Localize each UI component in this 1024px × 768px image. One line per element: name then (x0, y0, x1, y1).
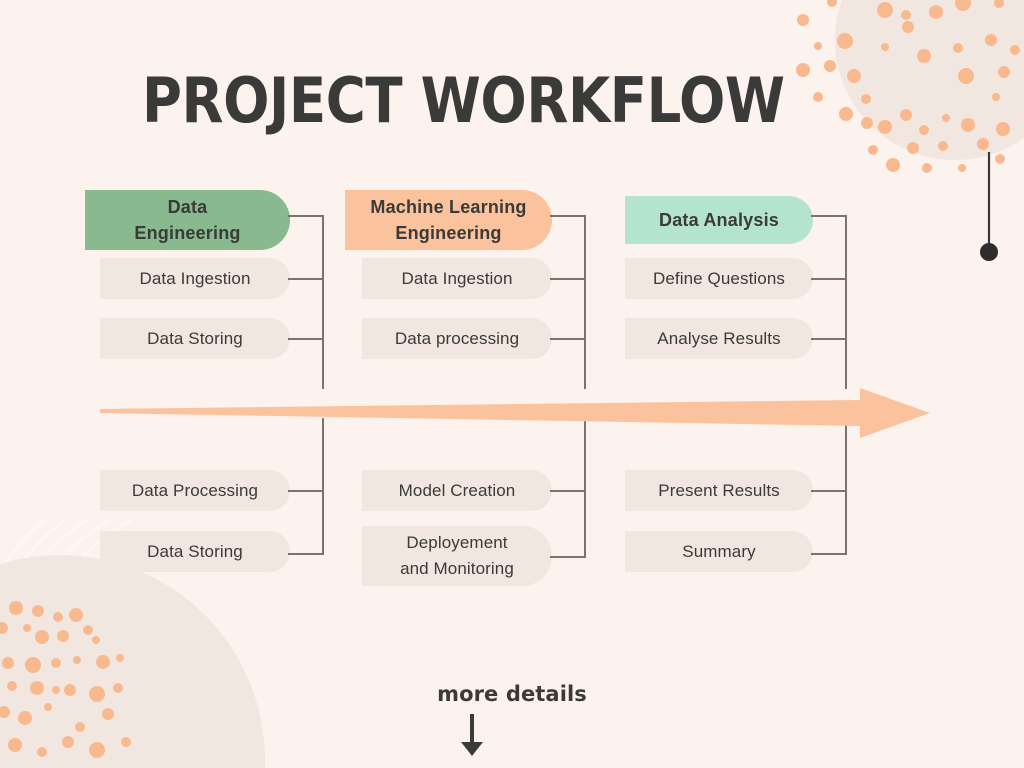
item-label: Data Storing (147, 329, 243, 349)
arrow-down-icon (452, 712, 492, 758)
column-header-label: Data Analysis (659, 210, 779, 231)
item-label-line1: Deployement (406, 533, 507, 552)
item-label: Data processing (395, 329, 519, 349)
item-label: Model Creation (399, 481, 516, 501)
item-label: Present Results (658, 481, 780, 501)
item-col1-data-storing-top[interactable]: Data Storing (100, 318, 290, 359)
item-label: Data Processing (132, 481, 258, 501)
item-col3-present-results[interactable]: Present Results (625, 470, 813, 511)
column-header-data-engineering[interactable]: Data Engineering (85, 190, 290, 250)
dot-cluster-top-right (796, 0, 1020, 173)
stub-col3-top2 (811, 338, 847, 340)
item-label: Data Storing (147, 542, 243, 562)
pin-marker (980, 152, 998, 261)
stub-col1-bot1 (288, 490, 324, 492)
column-header-machine-learning-engineering[interactable]: Machine Learning Engineering (345, 190, 552, 250)
item-label: Analyse Results (657, 329, 780, 349)
item-col2-data-ingestion[interactable]: Data Ingestion (362, 258, 552, 299)
column-header-data-analysis[interactable]: Data Analysis (625, 196, 813, 244)
stub-col1-top1 (288, 278, 324, 280)
column-header-line1: Data (168, 197, 208, 217)
item-label: Define Questions (653, 269, 785, 289)
item-col2-deployment-and-monitoring[interactable]: Deployement and Monitoring (362, 526, 552, 586)
dot-cluster-bottom-left (0, 601, 131, 758)
stub-col2-header (550, 215, 586, 217)
more-details-label: more details (0, 682, 1024, 706)
item-col1-data-processing[interactable]: Data Processing (100, 470, 290, 511)
item-col2-model-creation[interactable]: Model Creation (362, 470, 552, 511)
stub-col3-top1 (811, 278, 847, 280)
blob-top-right (835, 0, 1024, 160)
rail-col3-top (845, 215, 847, 389)
item-col2-data-processing[interactable]: Data processing (362, 318, 552, 359)
stub-col2-top2 (550, 338, 586, 340)
rail-col2-top (584, 215, 586, 389)
stub-col1-header (288, 215, 324, 217)
stub-col1-top2 (288, 338, 324, 340)
stub-col3-bot1 (811, 490, 847, 492)
item-label: Data Ingestion (139, 269, 250, 289)
item-col1-data-ingestion[interactable]: Data Ingestion (100, 258, 290, 299)
item-col1-data-storing-bottom[interactable]: Data Storing (100, 531, 290, 572)
page-title: PROJECT WORKFLOW (142, 62, 811, 140)
stub-col1-bot2 (288, 553, 324, 555)
stub-col2-top1 (550, 278, 586, 280)
column-header-line2: Engineering (134, 223, 240, 243)
infographic-canvas: PROJECT WORKFLOW Data Engineering Data I… (0, 0, 1024, 768)
blob-bottom-left (0, 555, 265, 768)
stub-col3-header (811, 215, 847, 217)
stub-col3-bot2 (811, 553, 847, 555)
column-header-line1: Machine Learning (370, 197, 526, 217)
item-col3-summary[interactable]: Summary (625, 531, 813, 572)
arc-lines-bottom-left (0, 470, 308, 768)
flow-arrow-right-icon (100, 382, 930, 444)
item-label: Data Ingestion (401, 269, 512, 289)
item-label: Summary (682, 542, 755, 562)
item-label-line2: and Monitoring (400, 559, 514, 578)
stub-col2-bot1 (550, 490, 586, 492)
item-col3-define-questions[interactable]: Define Questions (625, 258, 813, 299)
stub-col2-bot2 (550, 556, 586, 558)
rail-col1-top (322, 215, 324, 389)
item-col3-analyse-results[interactable]: Analyse Results (625, 318, 813, 359)
column-header-line2: Engineering (395, 223, 501, 243)
